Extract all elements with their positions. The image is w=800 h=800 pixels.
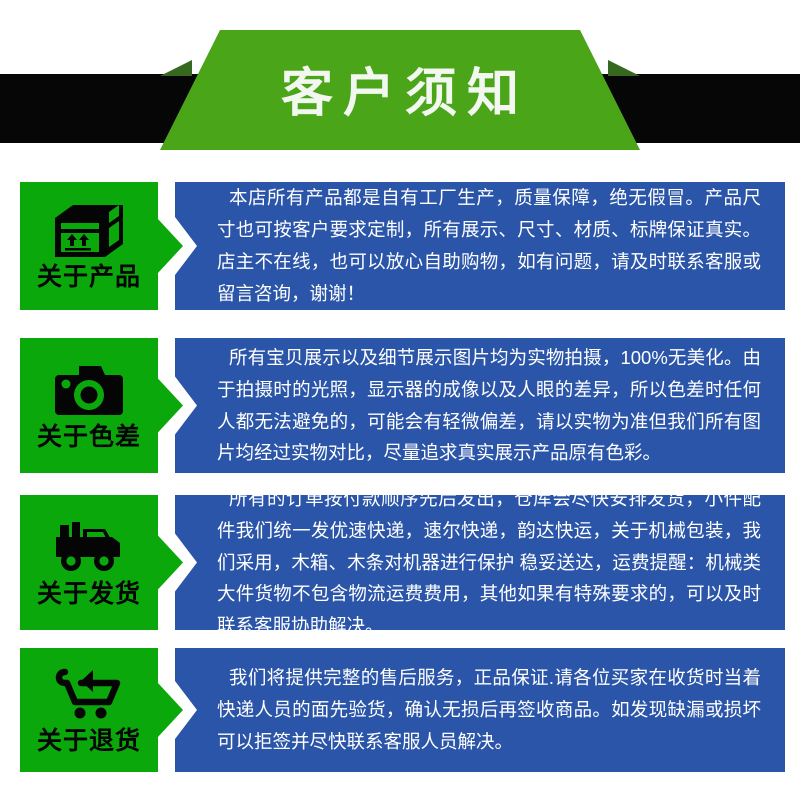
badge-label: 关于产品 [37, 264, 141, 292]
info-row-product: 关于产品 本店所有产品都是自有工厂生产，质量保障，绝无假冒。产品尺寸也可按客户要… [0, 182, 800, 310]
panel-text: 所有的订单按付款顺序先后发出，仓库会尽快安排发货，小件配件我们统一发优速快递，速… [175, 483, 785, 642]
camera-icon [47, 360, 131, 422]
panel-return: 我们将提供完整的售后服务，正品保证.请各位买家在收货时当着快递人员的面先验货，确… [175, 648, 785, 772]
info-row-return: 关于退货 我们将提供完整的售后服务，正品保证.请各位买家在收货时当着快递人员的面… [0, 648, 800, 772]
return-cart-icon [47, 664, 131, 726]
header-banner: 客户须知 [0, 0, 800, 160]
badge-arrow-product [157, 218, 183, 274]
badge-label: 关于色差 [37, 424, 141, 452]
badge-color[interactable]: 关于色差 [20, 338, 158, 473]
badge-shipping[interactable]: 关于发货 [20, 495, 158, 630]
panel-text: 本店所有产品都是自有工厂生产，质量保障，绝无假冒。产品尺寸也可按客户要求定制，所… [175, 182, 785, 309]
badge-arrow-shipping [157, 535, 183, 591]
badge-label: 关于发货 [37, 581, 141, 609]
panel-product: 本店所有产品都是自有工厂生产，质量保障，绝无假冒。产品尺寸也可按客户要求定制，所… [175, 182, 785, 310]
panel-text: 所有宝贝展示以及细节展示图片均为实物拍摄，100%无美化。由于拍摄时的光照，显示… [175, 342, 785, 469]
badge-product[interactable]: 关于产品 [20, 182, 158, 310]
info-row-color: 关于色差 所有宝贝展示以及细节展示图片均为实物拍摄，100%无美化。由于拍摄时的… [0, 338, 800, 473]
badge-arrow-return [157, 682, 183, 738]
panel-shipping: 所有的订单按付款顺序先后发出，仓库会尽快安排发货，小件配件我们统一发优速快递，速… [175, 495, 785, 630]
panel-color: 所有宝贝展示以及细节展示图片均为实物拍摄，100%无美化。由于拍摄时的光照，显示… [175, 338, 785, 473]
package-box-icon [47, 200, 131, 262]
badge-return[interactable]: 关于退货 [20, 648, 158, 772]
page-title: 客户须知 [160, 30, 640, 150]
badge-label: 关于退货 [37, 728, 141, 756]
badge-arrow-color [157, 378, 183, 434]
panel-text: 我们将提供完整的售后服务，正品保证.请各位买家在收货时当着快递人员的面先验货，确… [175, 662, 785, 757]
truck-icon [47, 517, 131, 579]
info-row-shipping: 关于发货 所有的订单按付款顺序先后发出，仓库会尽快安排发货，小件配件我们统一发优… [0, 495, 800, 630]
